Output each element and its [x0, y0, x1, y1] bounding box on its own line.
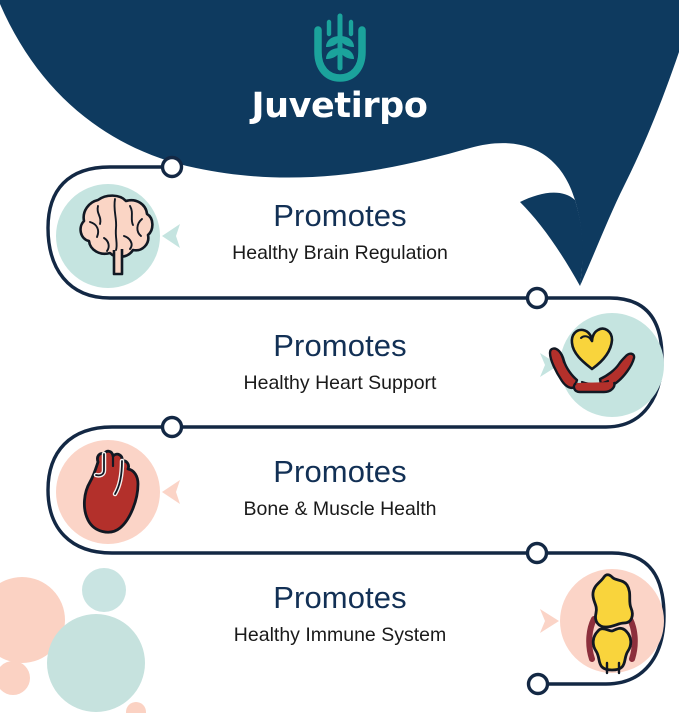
connector-node-3 — [163, 418, 182, 437]
row-subheading-3: Bone & Muscle Health — [130, 498, 550, 521]
row-text-3: Promotes Bone & Muscle Health — [130, 456, 550, 521]
connector-node-4 — [528, 544, 547, 563]
connector-node-1 — [163, 158, 182, 177]
row-heading-4: Promotes — [130, 582, 550, 615]
row-heading-1: Promotes — [130, 200, 550, 233]
infographic-canvas: Juvetirpo Promotes Health — [0, 0, 679, 713]
hands-holding-heart-icon — [530, 312, 670, 418]
badge-row-4 — [530, 565, 670, 677]
row-heading-2: Promotes — [130, 330, 550, 363]
row-text-1: Promotes Healthy Brain Regulation — [130, 200, 550, 265]
connector-node-5 — [529, 675, 548, 694]
row-text-2: Promotes Healthy Heart Support — [130, 330, 550, 395]
row-text-4: Promotes Healthy Immune System — [130, 582, 550, 647]
knee-joint-bone-icon — [530, 565, 670, 677]
row-subheading-4: Healthy Immune System — [130, 624, 550, 647]
connector-node-2 — [528, 289, 547, 308]
row-heading-3: Promotes — [130, 456, 550, 489]
badge-row-2 — [530, 312, 670, 418]
row-subheading-2: Healthy Heart Support — [130, 372, 550, 395]
row-subheading-1: Healthy Brain Regulation — [130, 242, 550, 265]
